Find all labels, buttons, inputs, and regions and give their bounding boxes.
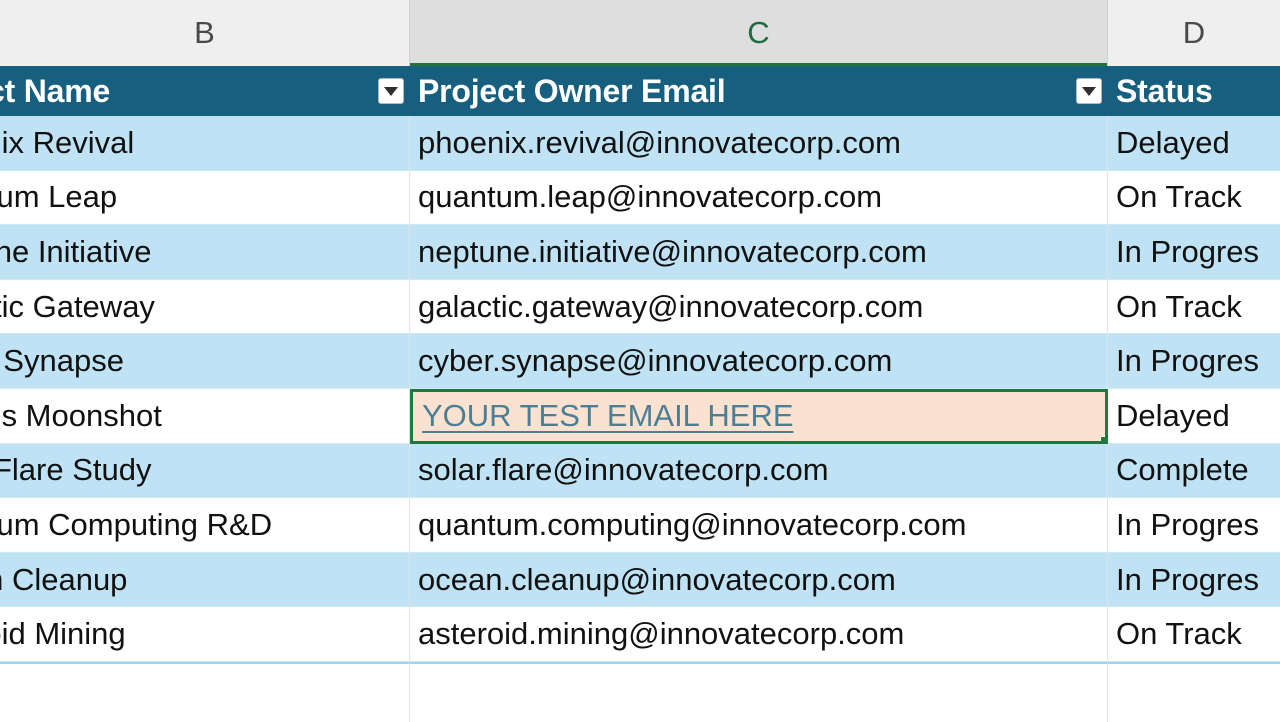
status-text: Complete (1116, 452, 1249, 488)
table-body: Phoenix Revivalphoenix.revival@innovatec… (0, 116, 1280, 722)
cell-project-owner-email[interactable]: neptune.initiative@innovatecorp.com (410, 225, 1108, 280)
project-name-text: Neptune Initiative (0, 234, 152, 270)
cell-project-name[interactable]: Galactic Gateway (0, 280, 410, 335)
status-text: On Track (1116, 616, 1242, 652)
table-row: Cyber Synapsecyber.synapse@innovatecorp.… (0, 334, 1280, 389)
column-letter-b: B (194, 15, 215, 51)
email-link-text: YOUR TEST EMAIL HERE (422, 398, 794, 434)
cell-project-owner-email[interactable]: galactic.gateway@innovatecorp.com (410, 280, 1108, 335)
empty-cell-c[interactable] (410, 662, 1108, 722)
cell-status[interactable]: On Track (1108, 607, 1280, 662)
cell-project-owner-email[interactable]: cyber.synapse@innovatecorp.com (410, 334, 1108, 389)
email-text: solar.flare@innovatecorp.com (418, 452, 829, 488)
header-label-project-name: Project Name (0, 73, 110, 110)
table-header-row: Project Name Project Owner Email Status (0, 66, 1280, 116)
header-cell-project-owner-email[interactable]: Project Owner Email (410, 66, 1108, 116)
status-text: In Progres (1116, 562, 1259, 598)
cell-project-name[interactable]: Cyber Synapse (0, 334, 410, 389)
header-label-project-owner-email: Project Owner Email (418, 73, 725, 110)
table-row: Quantum Computing R&Dquantum.computing@i… (0, 498, 1280, 553)
cell-project-owner-email[interactable]: solar.flare@innovatecorp.com (410, 444, 1108, 499)
cell-status[interactable]: On Track (1108, 280, 1280, 335)
project-name-text: Cyber Synapse (0, 343, 124, 379)
status-text: Delayed (1116, 125, 1230, 161)
email-text: ocean.cleanup@innovatecorp.com (418, 562, 896, 598)
email-text: quantum.computing@innovatecorp.com (418, 507, 966, 543)
cell-project-name[interactable]: Phoenix Revival (0, 116, 410, 171)
project-name-text: Artemis Moonshot (0, 398, 162, 434)
cell-status[interactable]: In Progres (1108, 498, 1280, 553)
table-row: Phoenix Revivalphoenix.revival@innovatec… (0, 116, 1280, 171)
cell-status[interactable]: Delayed (1108, 389, 1280, 444)
header-label-status: Status (1116, 73, 1213, 110)
cell-status[interactable]: Complete (1108, 444, 1280, 499)
cell-project-name[interactable]: Ocean Cleanup (0, 553, 410, 608)
table-row: Neptune Initiativeneptune.initiative@inn… (0, 225, 1280, 280)
table-row: Quantum Leapquantum.leap@innovatecorp.co… (0, 171, 1280, 226)
cell-project-owner-email-selected[interactable]: YOUR TEST EMAIL HERE (410, 389, 1108, 444)
cell-project-owner-email[interactable]: asteroid.mining@innovatecorp.com (410, 607, 1108, 662)
status-text: In Progres (1116, 343, 1259, 379)
cell-project-owner-email[interactable]: phoenix.revival@innovatecorp.com (410, 116, 1108, 171)
empty-row (0, 662, 1280, 722)
header-cell-status[interactable]: Status (1108, 66, 1280, 116)
status-text: In Progres (1116, 507, 1259, 543)
spreadsheet-grid: Project Name Project Owner Email Status … (0, 66, 1280, 720)
column-letter-d: D (1183, 15, 1205, 51)
cell-project-owner-email[interactable]: quantum.leap@innovatecorp.com (410, 171, 1108, 226)
cell-status[interactable]: In Progres (1108, 553, 1280, 608)
cell-project-name[interactable]: Quantum Leap (0, 171, 410, 226)
header-cell-project-name[interactable]: Project Name (0, 66, 410, 116)
cell-status[interactable]: In Progres (1108, 225, 1280, 280)
email-text: asteroid.mining@innovatecorp.com (418, 616, 904, 652)
cell-project-name[interactable]: Quantum Computing R&D (0, 498, 410, 553)
empty-cell-b[interactable] (0, 662, 410, 722)
project-name-text: Galactic Gateway (0, 289, 155, 325)
status-text: Delayed (1116, 398, 1230, 434)
email-text: galactic.gateway@innovatecorp.com (418, 289, 923, 325)
project-name-text: Solar Flare Study (0, 452, 152, 488)
status-text: In Progres (1116, 234, 1259, 270)
cell-project-name[interactable]: Artemis Moonshot (0, 389, 410, 444)
filter-dropdown-icon-project-owner-email[interactable] (1076, 78, 1102, 104)
project-name-text: Ocean Cleanup (0, 562, 127, 598)
cell-status[interactable]: In Progres (1108, 334, 1280, 389)
project-name-text: Quantum Leap (0, 179, 117, 215)
cell-project-owner-email[interactable]: quantum.computing@innovatecorp.com (410, 498, 1108, 553)
cell-project-name[interactable]: Solar Flare Study (0, 444, 410, 499)
fill-handle[interactable] (1100, 436, 1108, 444)
column-letter-c: C (747, 15, 769, 51)
email-text: cyber.synapse@innovatecorp.com (418, 343, 892, 379)
table-row: Asteroid Miningasteroid.mining@innovatec… (0, 607, 1280, 662)
cell-project-name[interactable]: Neptune Initiative (0, 225, 410, 280)
column-header-c[interactable]: C (410, 0, 1108, 66)
cell-status[interactable]: On Track (1108, 171, 1280, 226)
project-name-text: Quantum Computing R&D (0, 507, 272, 543)
status-text: On Track (1116, 179, 1242, 215)
table-row: Galactic Gatewaygalactic.gateway@innovat… (0, 280, 1280, 335)
email-text: neptune.initiative@innovatecorp.com (418, 234, 927, 270)
table-row: Solar Flare Studysolar.flare@innovatecor… (0, 444, 1280, 499)
project-name-text: Phoenix Revival (0, 125, 134, 161)
column-header-strip: B C D (0, 0, 1280, 66)
column-header-b[interactable]: B (0, 0, 410, 66)
filter-dropdown-icon-project-name[interactable] (378, 78, 404, 104)
email-text: phoenix.revival@innovatecorp.com (418, 125, 901, 161)
column-header-d[interactable]: D (1108, 0, 1280, 66)
cell-project-owner-email[interactable]: ocean.cleanup@innovatecorp.com (410, 553, 1108, 608)
status-text: On Track (1116, 289, 1242, 325)
cell-status[interactable]: Delayed (1108, 116, 1280, 171)
table-row: Ocean Cleanupocean.cleanup@innovatecorp.… (0, 553, 1280, 608)
project-name-text: Asteroid Mining (0, 616, 126, 652)
cell-project-name[interactable]: Asteroid Mining (0, 607, 410, 662)
table-row: Artemis MoonshotYOUR TEST EMAIL HEREDela… (0, 389, 1280, 444)
email-text: quantum.leap@innovatecorp.com (418, 179, 882, 215)
empty-cell-d[interactable] (1108, 662, 1280, 722)
